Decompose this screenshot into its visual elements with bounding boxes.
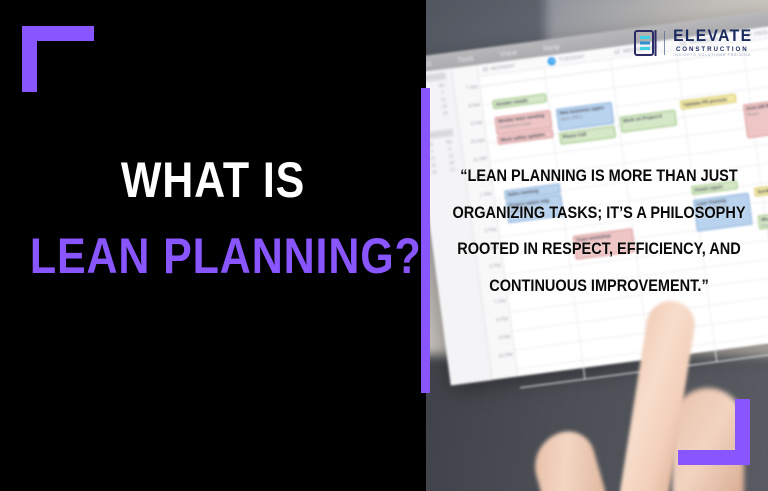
menu-item-edit[interactable]: Edit: [426, 59, 432, 70]
day-name-label: MONDAY: [491, 63, 516, 72]
day-number: 11: [548, 56, 557, 65]
quote-overlay: “LEAN PLANNING IS MORE THAN JUST ORGANIZ…: [432, 168, 766, 294]
quote-line-3: ROOTED IN RESPECT, EFFICIENCY, AND: [452, 241, 746, 258]
logo-tagline: INSIGHTS SOLUTIONS TRAINING: [673, 54, 751, 57]
page-title: WHAT IS LEAN PLANNING?: [0, 155, 426, 281]
corner-bracket-top-left: [22, 26, 94, 92]
bracket-arm-vertical: [22, 26, 37, 92]
bracket-arm-vertical: [735, 399, 750, 465]
hour-label: 10 PM: [490, 353, 517, 374]
day-name-label: FRIDAY: [754, 28, 768, 37]
elevate-e-mark-icon: [634, 30, 658, 56]
mini-day-cell[interactable]: [442, 116, 451, 124]
menu-item-task[interactable]: Task: [457, 53, 475, 64]
logo-wordmark: ELEVATE CONSTRUCTION INSIGHTS SOLUTIONS …: [671, 28, 754, 58]
logo-word-elevate: ELEVATE: [673, 28, 752, 45]
logo-divider: [664, 31, 665, 55]
quote-line-2: ORGANIZING TASKS; IT’S A PHILOSOPHY: [452, 205, 746, 222]
brand-logo[interactable]: ELEVATE CONSTRUCTION INSIGHTS SOLUTIONS …: [634, 28, 754, 58]
quote-line-4: CONTINUOUS IMPROVEMENT.”: [452, 278, 746, 295]
headline-line-1: WHAT IS: [30, 155, 396, 205]
purple-divider-bar: [421, 88, 430, 393]
day-number: 12: [613, 49, 620, 56]
logo-word-construction: CONSTRUCTION: [676, 47, 749, 53]
corner-bracket-bottom-right: [678, 399, 750, 465]
menu-item-view[interactable]: View: [499, 47, 518, 58]
title-panel: WHAT IS LEAN PLANNING?: [0, 0, 426, 491]
headline-line-2: LEAN PLANNING?: [30, 231, 396, 281]
poster-canvas: Edit Task View Help SuMo3410111718242531…: [0, 0, 768, 491]
mini-month-0[interactable]: SuMo3410111718242531: [426, 72, 456, 127]
quote-line-1: “LEAN PLANNING IS MORE THAN JUST: [452, 168, 746, 185]
day-number: 10: [482, 66, 489, 73]
menu-item-help[interactable]: Help: [543, 42, 561, 53]
